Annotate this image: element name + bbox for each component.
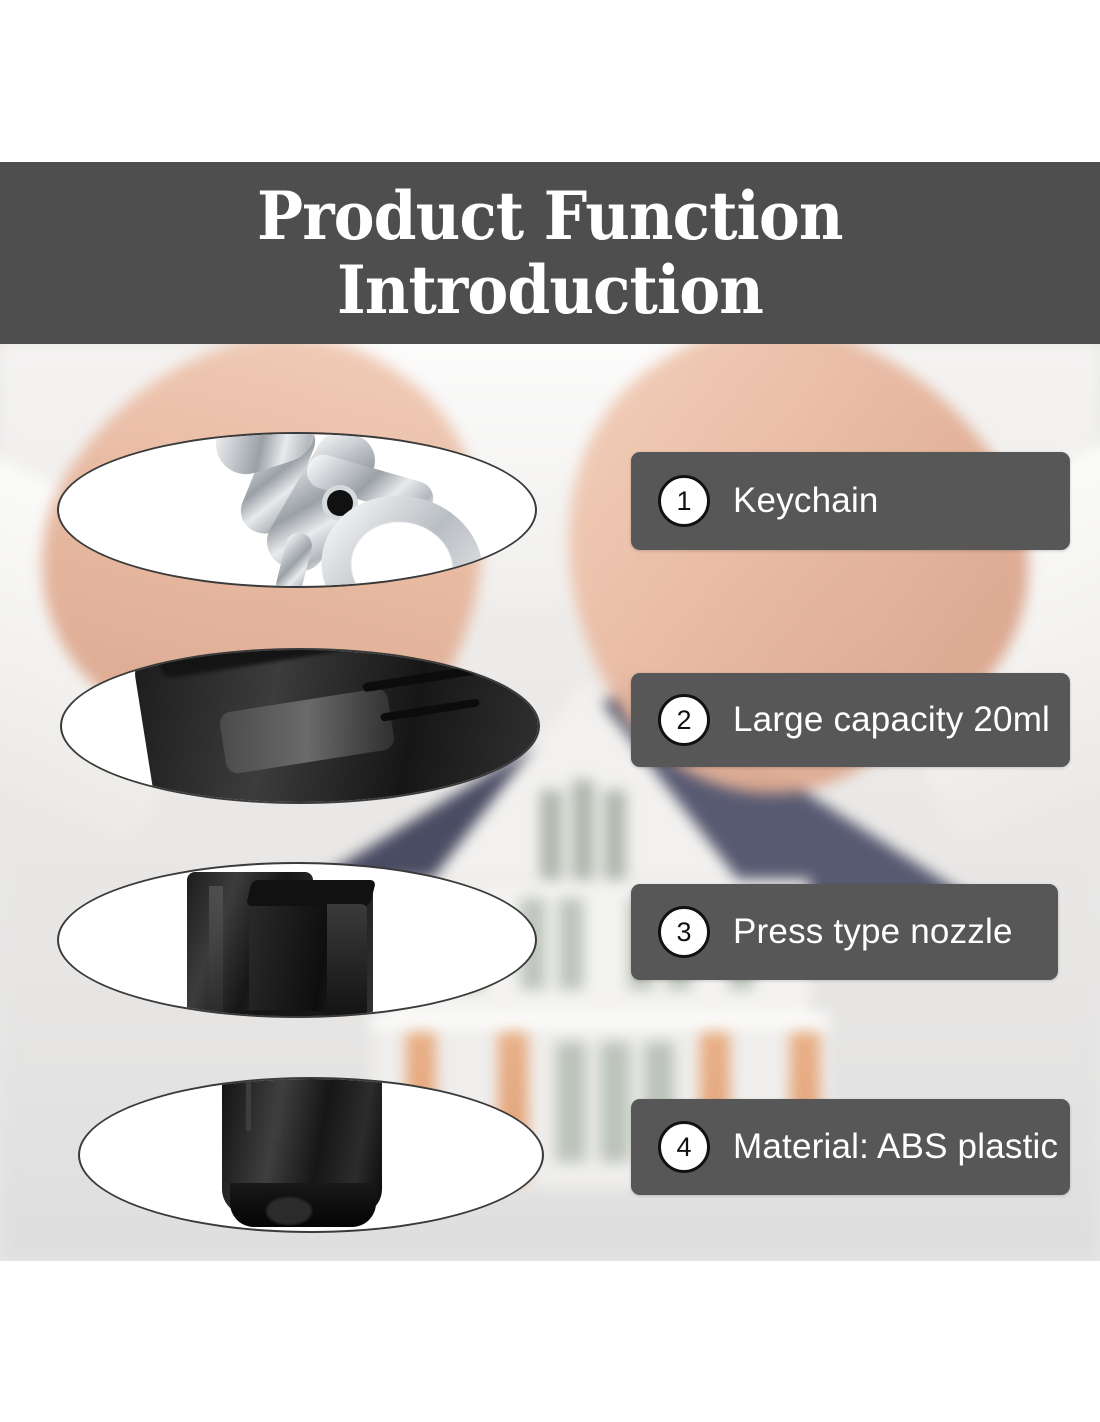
page-title-line1: Product Function <box>257 179 843 253</box>
bottle-body-artwork <box>62 650 538 802</box>
product-infographic-page: Product Function Introduction <box>0 0 1100 1422</box>
gable-window <box>604 790 626 885</box>
base-groove <box>276 1077 281 1139</box>
feature-bar-3[interactable]: 3 Press type nozzle <box>631 884 1058 980</box>
feature-badge-3: 3 <box>658 906 710 958</box>
feature-badge-2: 2 <box>658 694 710 746</box>
feature-label-1: Keychain <box>733 481 879 521</box>
gable-window <box>540 790 562 885</box>
house-window <box>558 898 584 990</box>
feature-badge-4: 4 <box>658 1121 710 1173</box>
nozzle-top-face <box>246 880 376 906</box>
header-band: Product Function Introduction <box>0 162 1100 344</box>
nozzle-highlight <box>209 886 223 1018</box>
feature-label-2: Large capacity 20ml <box>733 700 1050 740</box>
house-window <box>556 1042 586 1162</box>
callout-oval-capacity <box>60 648 540 804</box>
bottle-base-artwork <box>80 1079 542 1231</box>
nozzle-artwork <box>59 864 535 1016</box>
feature-bar-4[interactable]: 4 Material: ABS plastic <box>631 1099 1070 1195</box>
house-floor-divider <box>370 1014 830 1028</box>
feature-bar-2[interactable]: 2 Large capacity 20ml <box>631 673 1070 767</box>
nozzle-side <box>327 904 367 1018</box>
base-groove <box>246 1077 251 1131</box>
page-title-line2: Introduction <box>337 253 763 327</box>
base-shine <box>266 1197 312 1225</box>
house-window <box>600 1042 630 1162</box>
feature-badge-1: 1 <box>658 475 710 527</box>
feature-label-4: Material: ABS plastic <box>733 1127 1058 1167</box>
feature-bar-1[interactable]: 1 Keychain <box>631 452 1070 550</box>
callout-oval-keychain <box>57 432 537 588</box>
callout-oval-material <box>78 1077 544 1233</box>
keychain-artwork <box>59 434 535 586</box>
callout-oval-nozzle <box>57 862 537 1018</box>
feature-label-3: Press type nozzle <box>733 912 1013 952</box>
gable-window <box>572 780 594 885</box>
